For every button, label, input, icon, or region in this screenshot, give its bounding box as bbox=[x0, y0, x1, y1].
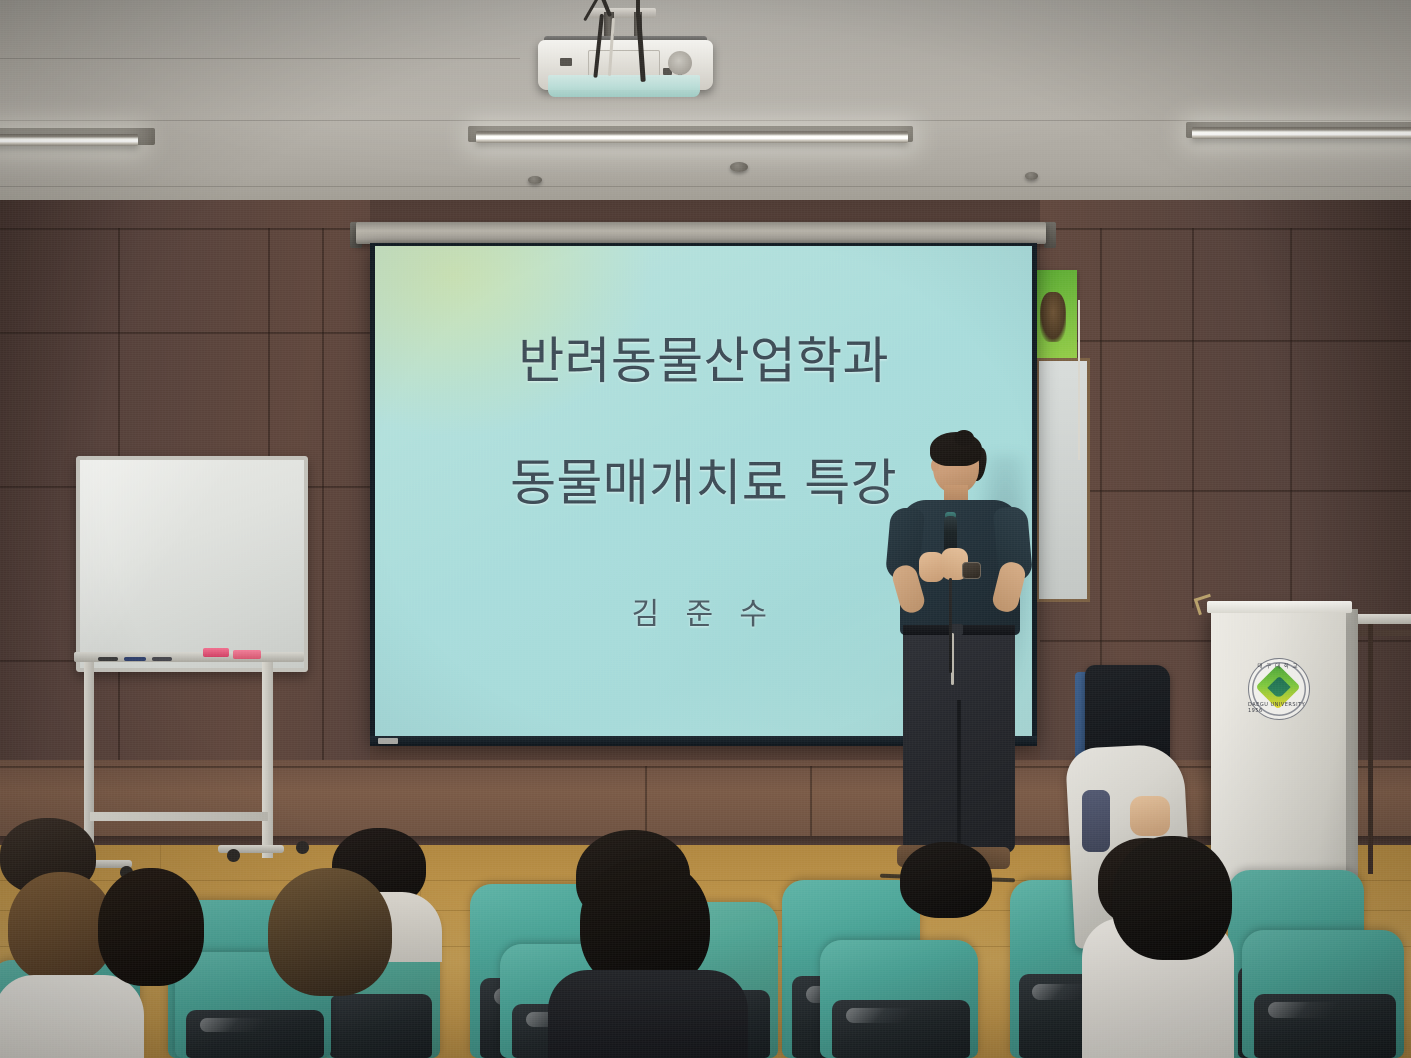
ceiling-seam bbox=[0, 120, 1411, 121]
attendee-head bbox=[1112, 836, 1232, 960]
whiteboard-eraser bbox=[203, 648, 229, 657]
attendee-head bbox=[268, 868, 392, 996]
stage-back-riser bbox=[0, 760, 1411, 840]
back-table-leg bbox=[1368, 624, 1373, 874]
whiteboard-marker bbox=[152, 657, 172, 661]
whiteboard-eraser bbox=[233, 650, 261, 659]
ceiling-vent-dot bbox=[1025, 172, 1038, 180]
stage-riser-seam bbox=[645, 766, 647, 838]
projector-fan-vent bbox=[668, 51, 692, 75]
lecture-hall-photo: 반려동물산업학과 동물매개치료 특강 김 준 수 bbox=[0, 0, 1411, 1058]
stage-riser-seam bbox=[0, 766, 1411, 768]
seat-gloss bbox=[200, 1018, 304, 1032]
whiteboard-marker bbox=[98, 657, 118, 661]
stage-riser-seam bbox=[810, 766, 812, 838]
lecturer-hair-bun bbox=[954, 430, 974, 446]
lecturer-trouser-seam bbox=[957, 700, 961, 853]
ceiling-cable bbox=[636, 0, 640, 18]
slide-line-1: 반려동물산업학과 bbox=[518, 336, 889, 386]
slide-speaker-name: 김 준 수 bbox=[632, 600, 776, 630]
jacket-print bbox=[1082, 790, 1110, 852]
whiteboard-leg-right bbox=[262, 662, 273, 858]
ceiling-projector bbox=[530, 12, 720, 102]
dog-poster-image bbox=[1040, 292, 1066, 342]
podium-side-panel bbox=[1346, 609, 1358, 891]
screen-roller-housing bbox=[356, 222, 1046, 244]
wall-panel-seam bbox=[1040, 340, 1411, 342]
seat-gloss bbox=[846, 1008, 950, 1023]
lecturer-wristwatch bbox=[962, 562, 981, 579]
fluorescent-light-left bbox=[0, 134, 138, 146]
podium-front-panel bbox=[1211, 607, 1346, 897]
wall-panel-seam bbox=[1192, 228, 1194, 608]
podium-top-surface bbox=[1207, 601, 1352, 613]
fluorescent-light-right bbox=[1192, 127, 1411, 139]
attendee-shoulders bbox=[548, 970, 748, 1058]
ceiling-speaker-dot bbox=[730, 162, 748, 172]
university-logo-english-text: DAEGU UNIVERSITY 1956 bbox=[1248, 658, 1308, 718]
seat-tablet-arm bbox=[330, 994, 432, 1058]
attendee-head bbox=[900, 842, 992, 918]
whiteboard-glare bbox=[80, 460, 296, 660]
slide-line-2: 동물매개치료 특강 bbox=[510, 458, 897, 508]
microphone-cord bbox=[949, 578, 952, 673]
whiteboard-marker bbox=[124, 657, 146, 661]
wall-panel-seam bbox=[1040, 490, 1411, 492]
wall-panel-seam bbox=[0, 332, 370, 334]
hanging-string bbox=[1078, 300, 1080, 460]
ceiling-seam bbox=[0, 58, 520, 59]
projector-port bbox=[560, 58, 572, 66]
attendee-head bbox=[98, 868, 204, 986]
back-table-shadow bbox=[1352, 630, 1411, 636]
ceiling-vent-dot bbox=[528, 176, 542, 184]
whiteboard-caster bbox=[227, 849, 240, 862]
whiteboard-caster bbox=[296, 841, 309, 854]
attendee-shoulders bbox=[0, 975, 144, 1058]
back-table bbox=[1355, 614, 1411, 624]
attendee-raised-arm bbox=[1130, 796, 1170, 836]
screen-brand-tag bbox=[378, 738, 398, 744]
ceiling-seam bbox=[0, 186, 1411, 187]
wall-panel-seam bbox=[1290, 228, 1292, 608]
whiteboard-crossbar bbox=[90, 812, 268, 821]
seat-gloss bbox=[1268, 1002, 1376, 1018]
projector-lens-strip bbox=[548, 75, 700, 97]
fluorescent-light-center bbox=[476, 131, 908, 143]
